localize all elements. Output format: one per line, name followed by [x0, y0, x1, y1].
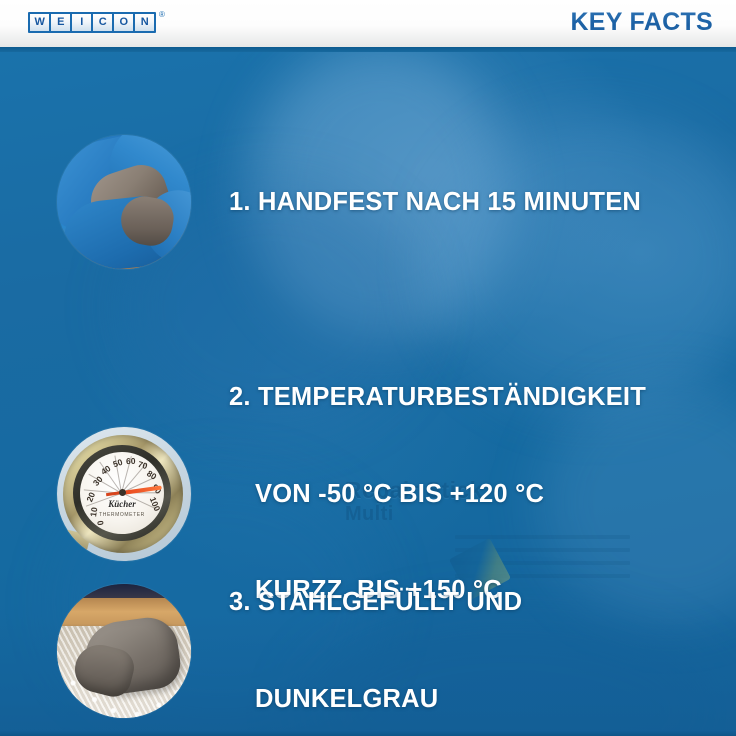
fact-caption-line: 2. TEMPERATURBESTÄNDIGKEIT	[229, 381, 646, 413]
logo-letter: I	[72, 14, 91, 31]
fact-caption-line: VON -50 °C BIS +120 °C	[229, 478, 646, 510]
key-facts-slide: Repair Stick Multi W E I C O N ® KEY FAC…	[0, 0, 736, 736]
page-header: W E I C O N ® KEY FACTS	[0, 0, 736, 47]
logo-letter-boxes: W E I C O N	[28, 12, 156, 33]
weicon-logo[interactable]: W E I C O N ®	[28, 11, 165, 33]
dial-hub	[119, 489, 126, 496]
dial-number: 10	[88, 506, 99, 517]
fact-image-grey-putty	[57, 584, 191, 718]
fact-caption-3: 3. STAHLGEFÜLLT UND DUNKELGRAU	[229, 522, 522, 736]
fact-row-3: 3. STAHLGEFÜLLT UND DUNKELGRAU	[57, 522, 522, 736]
registered-trademark-icon: ®	[159, 11, 165, 19]
thermometer-brand: Kücher	[108, 499, 136, 509]
fact-caption-line: 1. HANDFEST NACH 15 MINUTEN	[229, 186, 641, 218]
logo-letter: N	[135, 14, 154, 31]
logo-letter: O	[114, 14, 133, 31]
fact-row-1: 1. HANDFEST NACH 15 MINUTEN	[57, 122, 641, 283]
logo-letter: C	[93, 14, 112, 31]
dial-number: 100	[148, 495, 163, 512]
fact-caption-1: 1. HANDFEST NACH 15 MINUTEN	[229, 122, 641, 283]
fact-image-gloved-hands	[57, 135, 191, 269]
dial-number: 70	[137, 459, 149, 471]
fact-caption-line: 3. STAHLGEFÜLLT UND	[229, 586, 522, 618]
bottom-bar	[0, 730, 736, 736]
dial-number: 50	[112, 456, 124, 468]
dial-number: 60	[126, 456, 136, 466]
logo-letter: W	[30, 14, 49, 31]
fact-caption-line: DUNKELGRAU	[229, 683, 522, 715]
header-divider	[0, 47, 736, 52]
page-title: KEY FACTS	[570, 8, 713, 37]
thermometer-brand-sub: THERMOMETER	[99, 512, 145, 518]
logo-letter: E	[51, 14, 70, 31]
